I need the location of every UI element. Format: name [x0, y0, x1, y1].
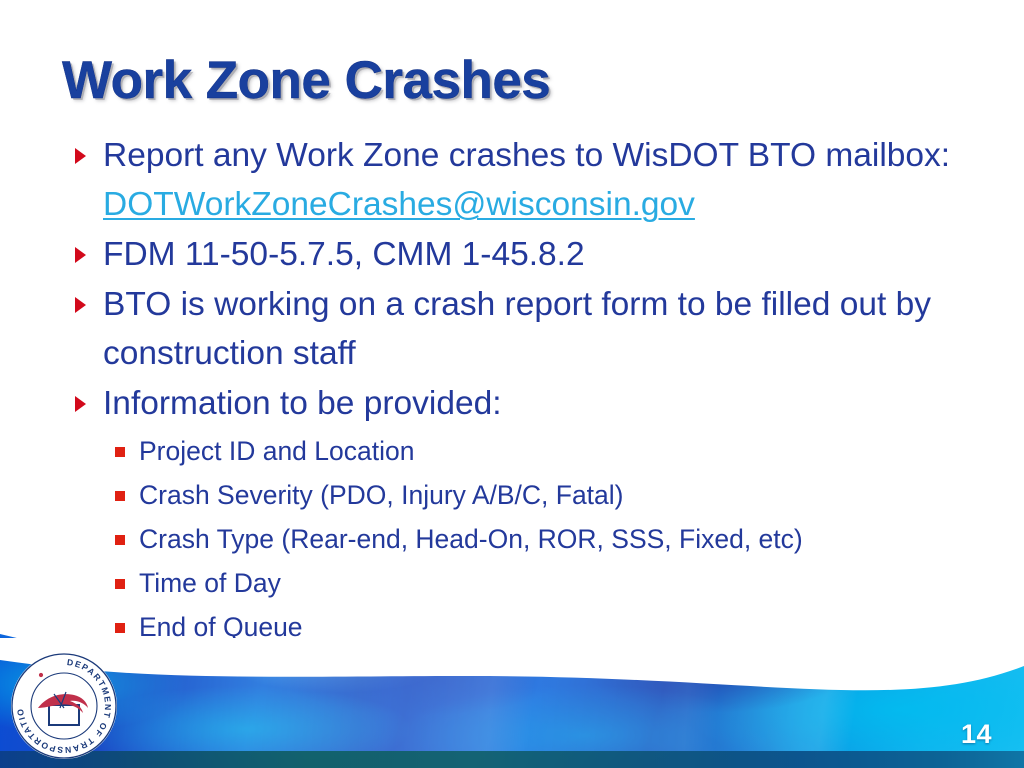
- triangle-bullet-icon: [75, 297, 86, 313]
- slide-body: Report any Work Zone crashes to WisDOT B…: [0, 132, 1024, 695]
- square-bullet-icon: [115, 447, 125, 457]
- triangle-bullet-icon: [75, 148, 86, 164]
- square-bullet-icon: [115, 491, 125, 501]
- triangle-bullet-icon: [75, 396, 86, 412]
- water-bottom-sediment-strip: [0, 751, 1024, 768]
- sub-bullet-text: Crash Severity (PDO, Injury A/B/C, Fatal…: [139, 480, 624, 510]
- sub-bullet-item-crash-type: Crash Type (Rear-end, Head-On, ROR, SSS,…: [103, 518, 984, 562]
- email-link-dotworkzonecrashes[interactable]: DOTWorkZoneCrashes@wisconsin.gov: [103, 186, 695, 223]
- sub-bullet-item-project-id-location: Project ID and Location: [103, 430, 984, 474]
- sub-bullet-item-time-of-day: Time of Day: [103, 562, 984, 606]
- sub-bullet-item-crash-severity: Crash Severity (PDO, Injury A/B/C, Fatal…: [103, 474, 984, 518]
- bullet-item-fdm-cmm-reference: FDM 11-50-5.7.5, CMM 1-45.8.2: [0, 231, 1024, 280]
- page-number: 14: [961, 719, 992, 750]
- square-bullet-icon: [115, 579, 125, 589]
- bullet-item-report-mailbox: Report any Work Zone crashes to WisDOT B…: [0, 132, 1024, 230]
- sub-bullet-text: Crash Type (Rear-end, Head-On, ROR, SSS,…: [139, 524, 803, 554]
- bullet-text: Report any Work Zone crashes to WisDOT B…: [103, 137, 950, 174]
- bullet-item-bto-crash-report-form: BTO is working on a crash report form to…: [0, 281, 1024, 379]
- sub-bullet-text: Project ID and Location: [139, 436, 414, 466]
- bullet-text: Information to be provided:: [103, 385, 502, 422]
- square-bullet-icon: [115, 535, 125, 545]
- sub-bullet-text: Time of Day: [139, 568, 281, 598]
- slide-canvas: Work Zone Crashes Report any Work Zone c…: [0, 0, 1024, 768]
- page-title: Work Zone Crashes: [62, 50, 550, 111]
- bullet-list: Report any Work Zone crashes to WisDOT B…: [0, 132, 1024, 694]
- bullet-text: BTO is working on a crash report form to…: [103, 286, 931, 372]
- wisdot-logo: DEPARTMENT OF TRANSPORTATION: [8, 650, 120, 762]
- triangle-bullet-icon: [75, 247, 86, 263]
- bullet-text: FDM 11-50-5.7.5, CMM 1-45.8.2: [103, 236, 585, 273]
- wisdot-seal-icon: DEPARTMENT OF TRANSPORTATION: [8, 650, 120, 762]
- footer-water-band: 14: [0, 638, 1024, 768]
- footer-top-curve-mask: [0, 638, 1024, 708]
